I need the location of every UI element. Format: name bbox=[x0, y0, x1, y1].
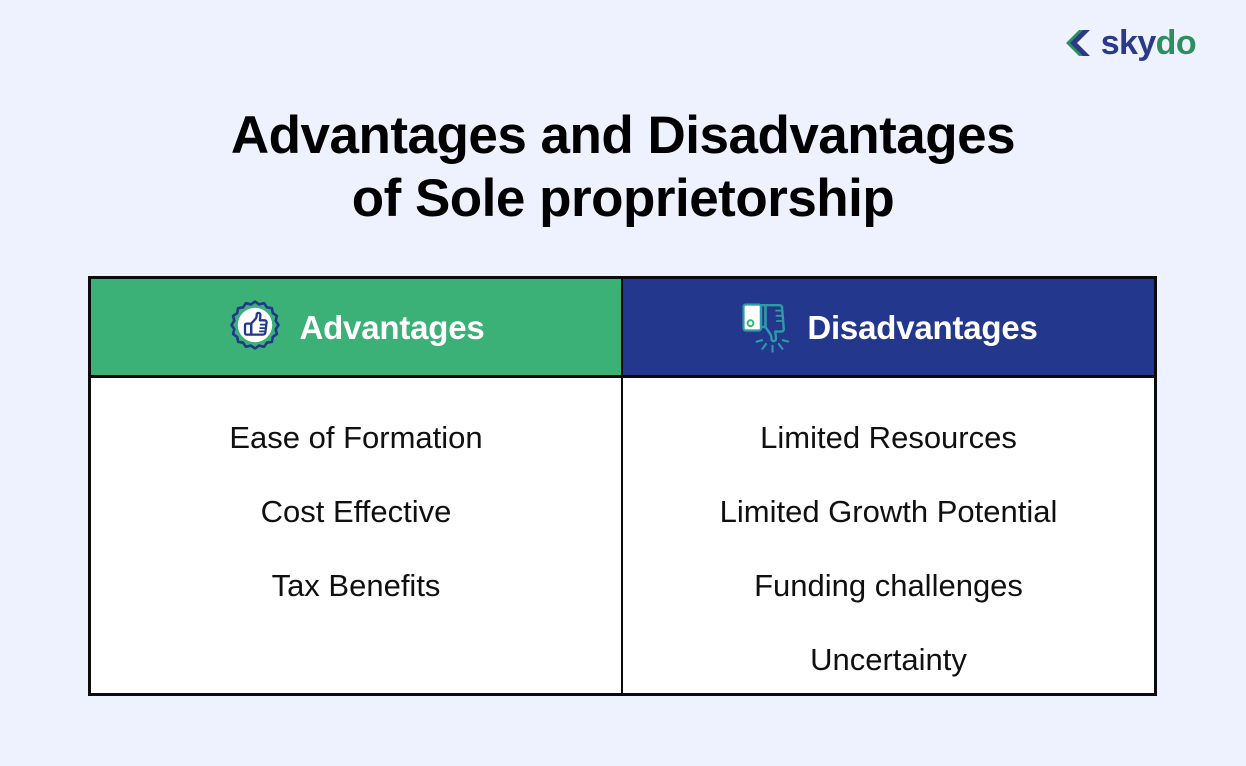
list-item: Ease of Formation bbox=[91, 400, 621, 474]
thumbs-up-badge-icon bbox=[227, 299, 283, 355]
list-item: Limited Resources bbox=[623, 400, 1154, 474]
thumbs-down-icon bbox=[739, 299, 791, 355]
comparison-table: Advantages Disadvantages Ease of Formati… bbox=[88, 276, 1157, 696]
list-item: Funding challenges bbox=[623, 548, 1154, 622]
list-item: Tax Benefits bbox=[91, 548, 621, 622]
page-title: Advantages and Disadvantages of Sole pro… bbox=[0, 104, 1246, 231]
list-item: Uncertainty bbox=[623, 622, 1154, 696]
table-header-row: Advantages Disadvantages bbox=[91, 279, 1154, 378]
page-title-line-2: of Sole proprietorship bbox=[0, 167, 1246, 231]
disadvantages-list: Limited Resources Limited Growth Potenti… bbox=[623, 378, 1154, 696]
list-item: Limited Growth Potential bbox=[623, 474, 1154, 548]
brand-word-sky: sky bbox=[1101, 24, 1156, 62]
table-header-cell-advantages: Advantages bbox=[91, 279, 623, 375]
table-header-label-advantages: Advantages bbox=[299, 311, 484, 344]
table-cell-disadvantages: Limited Resources Limited Growth Potenti… bbox=[623, 378, 1154, 696]
table-cell-advantages: Ease of Formation Cost Effective Tax Ben… bbox=[91, 378, 623, 696]
skydo-chevron-logo-icon bbox=[1060, 28, 1094, 58]
brand-word-do: do bbox=[1156, 24, 1196, 62]
advantages-list: Ease of Formation Cost Effective Tax Ben… bbox=[91, 378, 621, 622]
list-item: Cost Effective bbox=[91, 474, 621, 548]
page-title-line-1: Advantages and Disadvantages bbox=[0, 104, 1246, 168]
table-header-cell-disadvantages: Disadvantages bbox=[623, 279, 1154, 375]
brand-wordmark: skydo bbox=[1101, 26, 1196, 60]
table-header-label-disadvantages: Disadvantages bbox=[807, 311, 1037, 344]
table-body: Ease of Formation Cost Effective Tax Ben… bbox=[91, 378, 1154, 696]
brand-logo: skydo bbox=[1060, 22, 1196, 64]
